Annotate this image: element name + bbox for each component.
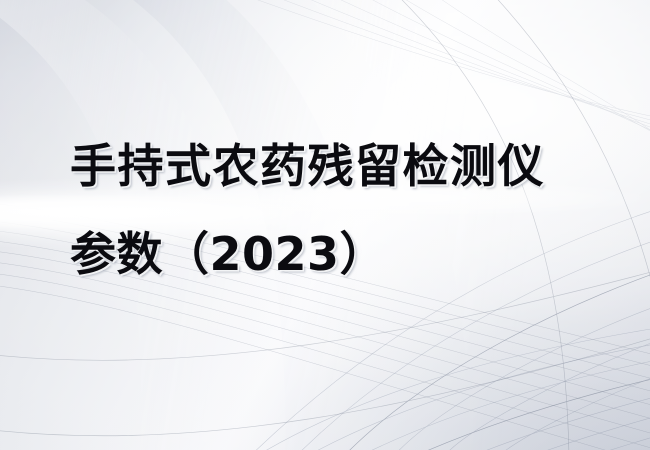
- title-block: 手持式农药残留检测仪 参数（2023）: [70, 122, 610, 298]
- title-line-1: 手持式农药残留检测仪: [70, 122, 610, 210]
- title-slide: 手持式农药残留检测仪 参数（2023）: [0, 0, 650, 450]
- title-line-2: 参数（2023）: [70, 210, 610, 298]
